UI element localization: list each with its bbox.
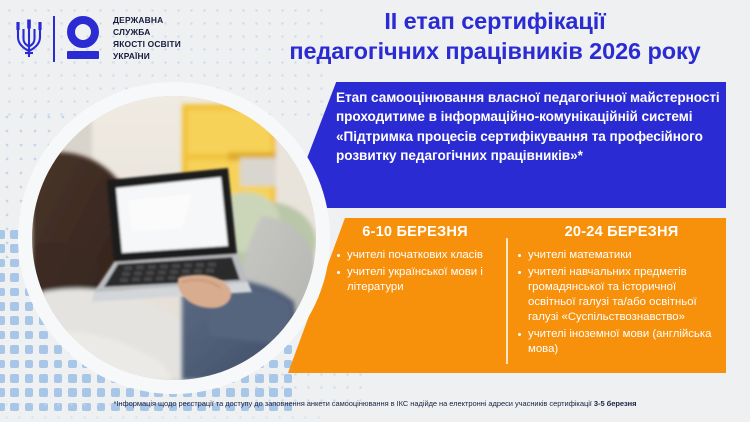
schedule-column-first-title: 6-10 БЕРЕЗНЯ — [336, 224, 494, 240]
infographic-poster: ДЕРЖАВНА СЛУЖБА ЯКОСТІ ОСВІТИ УКРАЇНИ II… — [0, 0, 750, 422]
schedule-column-first-list: учителі початкових класівучителі українс… — [336, 248, 494, 295]
sqe-ring-icon — [64, 16, 104, 62]
column-divider — [506, 238, 508, 364]
schedule-column-first: 6-10 БЕРЕЗНЯ учителі початкових класівуч… — [336, 224, 506, 370]
schedule-columns: 6-10 БЕРЕЗНЯ учителі початкових класівуч… — [336, 224, 726, 370]
schedule-column-second: 20-24 БЕРЕЗНЯ учителі математикиучителі … — [517, 224, 726, 370]
footer-note: *Інформація щодо реєстрації та доступу д… — [0, 399, 750, 409]
schedule-column-second-list: учителі математикиучителі навчальних пре… — [517, 248, 726, 357]
list-item: учителі математики — [517, 248, 726, 263]
list-item: учителі іноземної мови (англійська мова) — [517, 327, 726, 357]
schedule-column-second-title: 20-24 БЕРЕЗНЯ — [517, 224, 726, 240]
page-title-line-1: II етап сертифікації — [252, 7, 738, 37]
logo-divider — [53, 16, 55, 62]
footer-note-date: 3-5 березня — [594, 399, 637, 408]
list-item: учителі початкових класів — [336, 248, 494, 263]
ukraine-trident-icon — [14, 17, 44, 61]
list-item: учителі навчальних предметів громадянськ… — [517, 265, 726, 325]
footer-note-text: *Інформація щодо реєстрації та доступу д… — [114, 399, 594, 408]
list-item: учителі української мови і літератури — [336, 265, 494, 295]
page-title-line-2: педагогічних працівників 2026 року — [252, 37, 738, 67]
blue-panel-text: Етап самооцінювання власної педагогічної… — [336, 88, 722, 165]
page-title: II етап сертифікації педагогічних праців… — [252, 7, 738, 67]
organization-logo: ДЕРЖАВНА СЛУЖБА ЯКОСТІ ОСВІТИ УКРАЇНИ — [14, 11, 181, 67]
organization-name: ДЕРЖАВНА СЛУЖБА ЯКОСТІ ОСВІТИ УКРАЇНИ — [113, 15, 181, 63]
man-with-laptop-photo — [32, 96, 316, 380]
